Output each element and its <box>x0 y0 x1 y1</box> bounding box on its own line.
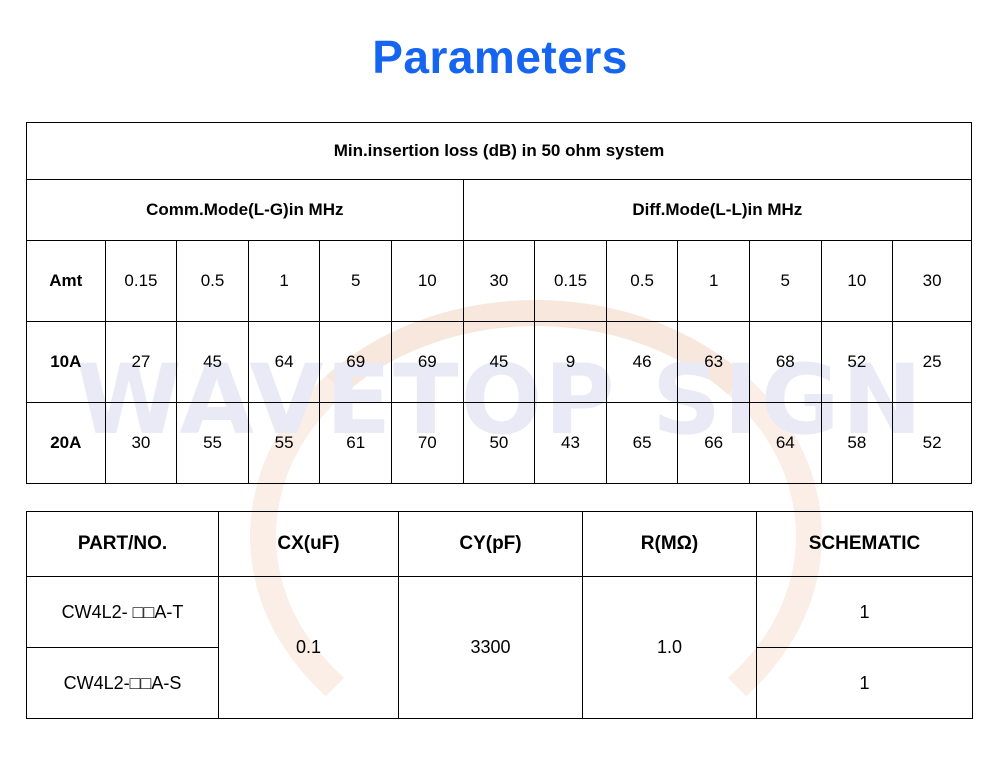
schematic-value-cell: 1 <box>757 648 973 719</box>
comm-mode-header-cell: Comm.Mode(L-G)in MHz <box>27 180 464 241</box>
column-header-cx: CX(uF) <box>219 512 399 577</box>
loss-value-cell: 58 <box>821 403 893 484</box>
loss-value-cell: 55 <box>177 403 249 484</box>
table-row: PART/NO. CX(uF) CY(pF) R(MΩ) SCHEMATIC <box>27 512 973 577</box>
loss-value-cell: 68 <box>749 322 821 403</box>
frequency-cell: 10 <box>392 241 464 322</box>
loss-value-cell: 45 <box>463 322 535 403</box>
current-rating-cell: 20A <box>27 403 106 484</box>
frequency-cell: 0.15 <box>535 241 607 322</box>
loss-value-cell: 66 <box>678 403 750 484</box>
loss-value-cell: 9 <box>535 322 607 403</box>
loss-value-cell: 64 <box>248 322 320 403</box>
loss-value-cell: 25 <box>893 322 972 403</box>
table-row: 20A 30 55 55 61 70 50 43 65 66 64 58 52 <box>27 403 972 484</box>
frequency-cell: 1 <box>248 241 320 322</box>
part-number-cell: CW4L2-□□A-S <box>27 648 219 719</box>
frequency-cell: 5 <box>320 241 392 322</box>
frequency-cell: 1 <box>678 241 750 322</box>
loss-value-cell: 61 <box>320 403 392 484</box>
current-rating-cell: 10A <box>27 322 106 403</box>
part-number-cell: CW4L2- □□A-T <box>27 577 219 648</box>
loss-value-cell: 46 <box>606 322 678 403</box>
loss-value-cell: 45 <box>177 322 249 403</box>
part-number-table: PART/NO. CX(uF) CY(pF) R(MΩ) SCHEMATIC C… <box>26 511 973 719</box>
r-value-cell: 1.0 <box>583 577 757 719</box>
insertion-loss-table: Min.insertion loss (dB) in 50 ohm system… <box>26 122 972 484</box>
table-row: Comm.Mode(L-G)in MHz Diff.Mode(L-L)in MH… <box>27 180 972 241</box>
loss-value-cell: 69 <box>392 322 464 403</box>
frequency-cell: 5 <box>749 241 821 322</box>
frequency-cell: 30 <box>463 241 535 322</box>
amt-label-cell: Amt <box>27 241 106 322</box>
loss-value-cell: 55 <box>248 403 320 484</box>
loss-value-cell: 52 <box>893 403 972 484</box>
column-header-schematic: SCHEMATIC <box>757 512 973 577</box>
loss-value-cell: 65 <box>606 403 678 484</box>
cx-value-cell: 0.1 <box>219 577 399 719</box>
frequency-cell: 0.5 <box>177 241 249 322</box>
loss-value-cell: 69 <box>320 322 392 403</box>
loss-value-cell: 52 <box>821 322 893 403</box>
loss-value-cell: 70 <box>392 403 464 484</box>
table-row: 10A 27 45 64 69 69 45 9 46 63 68 52 25 <box>27 322 972 403</box>
frequency-cell: 10 <box>821 241 893 322</box>
insertion-loss-title-cell: Min.insertion loss (dB) in 50 ohm system <box>27 123 972 180</box>
page-title: Parameters <box>0 30 1000 84</box>
loss-value-cell: 27 <box>105 322 177 403</box>
column-header-partno: PART/NO. <box>27 512 219 577</box>
frequency-cell: 30 <box>893 241 972 322</box>
column-header-r: R(MΩ) <box>583 512 757 577</box>
schematic-value-cell: 1 <box>757 577 973 648</box>
cy-value-cell: 3300 <box>399 577 583 719</box>
loss-value-cell: 64 <box>749 403 821 484</box>
diff-mode-header-cell: Diff.Mode(L-L)in MHz <box>463 180 971 241</box>
column-header-cy: CY(pF) <box>399 512 583 577</box>
frequency-cell: 0.5 <box>606 241 678 322</box>
parameters-page: Parameters Min.insertion loss (dB) in 50… <box>0 0 1000 764</box>
loss-value-cell: 63 <box>678 322 750 403</box>
loss-value-cell: 30 <box>105 403 177 484</box>
table-row: CW4L2- □□A-T 0.1 3300 1.0 1 <box>27 577 973 648</box>
loss-value-cell: 43 <box>535 403 607 484</box>
table-row: Min.insertion loss (dB) in 50 ohm system <box>27 123 972 180</box>
frequency-cell: 0.15 <box>105 241 177 322</box>
loss-value-cell: 50 <box>463 403 535 484</box>
table-row: Amt 0.15 0.5 1 5 10 30 0.15 0.5 1 5 10 3… <box>27 241 972 322</box>
